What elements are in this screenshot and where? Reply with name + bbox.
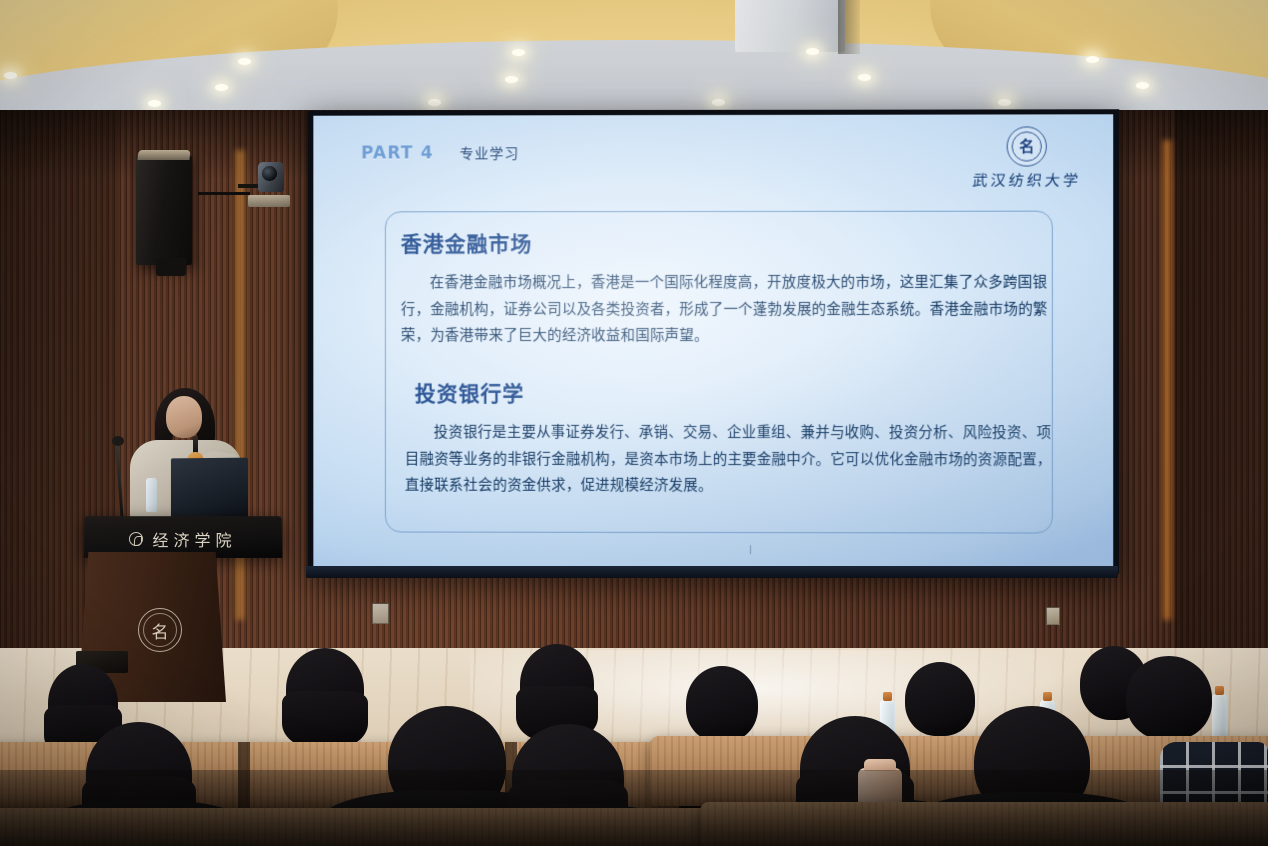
downlight-icon (512, 49, 525, 56)
section-body-2-text: 投资银行是主要从事证券发行、承销、交易、企业重组、兼并与收购、投资分析、风险投资… (405, 420, 1053, 500)
audience-head (686, 666, 758, 742)
podium-label-text: 经济学院 (152, 527, 236, 551)
podium-label: 经济学院 (84, 527, 282, 551)
slide-part-label: PART 4 (361, 143, 434, 163)
audience-head (1126, 656, 1212, 740)
university-name: 武汉纺织大学 (961, 169, 1092, 190)
downlight-icon (215, 84, 228, 91)
university-logo: 名 武汉纺织大学 (962, 126, 1091, 190)
lecture-hall-scene: PART 4 专业学习 名 武汉纺织大学 香港金融市场 在香港金融市场概况上，香… (0, 0, 1268, 846)
wall-accent-light-right (1160, 140, 1174, 620)
wall-outlet-plate[interactable] (372, 603, 389, 624)
audience-head (286, 648, 364, 730)
slide-surface: PART 4 专业学习 名 武汉纺织大学 香港金融市场 在香港金融市场概况上，香… (313, 114, 1113, 568)
speaker-cable (198, 192, 250, 195)
wall-right-dark-panel (1175, 110, 1268, 670)
downlight-icon (148, 100, 161, 107)
section-body-2: 投资银行是主要从事证券发行、承销、交易、企业重组、兼并与收购、投资分析、风险投资… (405, 420, 1053, 500)
podium-top: 经济学院 (84, 516, 283, 558)
camera-mount-plate (248, 195, 290, 207)
wall-speaker-icon (136, 155, 192, 265)
school-emblem-icon (129, 532, 143, 546)
wall-outlet-plate-right[interactable] (1046, 607, 1060, 625)
section-heading-2: 投资银行学 (415, 378, 525, 408)
downlight-icon (858, 74, 871, 81)
downlight-icon (998, 99, 1011, 106)
section-body-1: 在香港金融市场概况上，香港是一个国际化程度高，开放度极大的市场，这里汇集了众多跨… (401, 270, 1049, 350)
projection-screen[interactable]: PART 4 专业学习 名 武汉纺织大学 香港金融市场 在香港金融市场概况上，香… (307, 109, 1119, 574)
audience-head (520, 644, 594, 724)
section-heading-1: 香港金融市场 (401, 228, 532, 258)
presenter-laptop[interactable] (171, 458, 248, 521)
audience-head (48, 664, 118, 742)
podium-seal-glyph: 名 (152, 618, 169, 643)
camera-lens-icon (262, 166, 277, 181)
screen-bottom-frame (306, 566, 1118, 578)
microphone-stand-head-icon (112, 436, 124, 446)
university-seal-icon: 名 (1007, 126, 1047, 166)
presenter-head (166, 396, 202, 438)
text-cursor (750, 545, 751, 554)
downlight-icon (505, 76, 518, 83)
seal-glyph: 名 (1019, 139, 1034, 154)
ceiling-column (735, 0, 845, 52)
downlight-icon (712, 99, 725, 106)
section-body-1-text: 在香港金融市场概况上，香港是一个国际化程度高，开放度极大的市场，这里汇集了众多跨… (401, 270, 1049, 350)
ceiling-column-shadow (838, 0, 860, 54)
downlight-icon (806, 48, 819, 55)
podium-water-bottle (146, 478, 157, 512)
wall-speaker-bracket (156, 258, 186, 276)
downlight-icon (428, 99, 441, 106)
downlight-icon (1086, 56, 1099, 63)
slide-header: PART 4 专业学习 (361, 143, 519, 163)
downlight-icon (238, 58, 251, 65)
downlight-icon (4, 72, 17, 79)
downlight-icon (1136, 82, 1149, 89)
water-bottle (1212, 694, 1227, 740)
foreground-shadow (0, 770, 1268, 846)
slide-subject-label: 专业学习 (459, 143, 519, 163)
podium-seal-icon: 名 (138, 608, 182, 652)
audience-head (905, 662, 975, 736)
